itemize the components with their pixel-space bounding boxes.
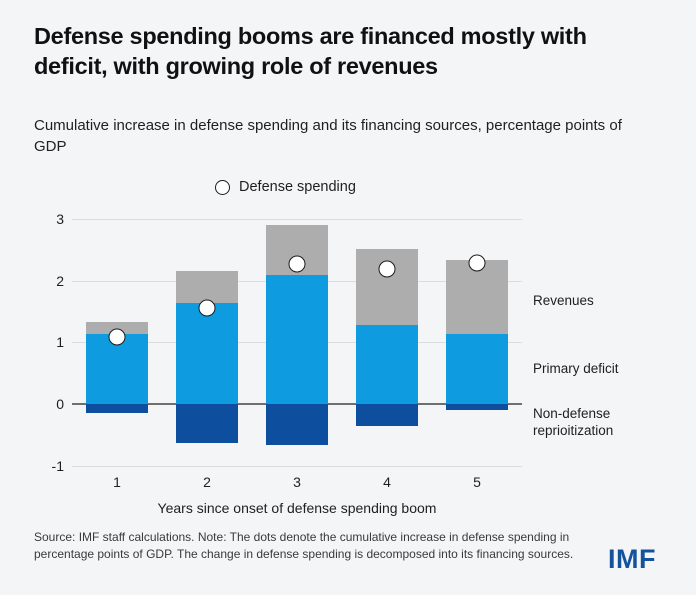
- bar-segment-primary-deficit: [266, 275, 328, 404]
- defense-spending-dot: [379, 260, 396, 277]
- bar-segment-non-defense: [176, 404, 238, 443]
- chart-page: Defense spending booms are financed most…: [0, 0, 696, 595]
- bar-segment-primary-deficit: [356, 325, 418, 404]
- y-axis-tick-label: -1: [26, 458, 64, 474]
- bar-segment-non-defense: [356, 404, 418, 426]
- side-label-revenues: Revenues: [533, 292, 594, 309]
- defense-spending-dot: [199, 299, 216, 316]
- x-axis-tick-label: 4: [356, 474, 418, 490]
- x-axis-tick-label: 3: [266, 474, 328, 490]
- defense-spending-dot: [469, 254, 486, 271]
- bar-segment-primary-deficit: [446, 334, 508, 404]
- source-note: Source: IMF staff calculations. Note: Th…: [34, 529, 579, 562]
- x-axis-tick-label: 2: [176, 474, 238, 490]
- side-label-non-defense: Non-defense reprioitization: [533, 405, 643, 439]
- bar-segment-revenues: [446, 260, 508, 334]
- defense-spending-dot: [109, 328, 126, 345]
- x-axis-title: Years since onset of defense spending bo…: [72, 500, 522, 516]
- y-axis-tick-label: 2: [26, 273, 64, 289]
- defense-spending-dot: [289, 255, 306, 272]
- bar-segment-primary-deficit: [176, 303, 238, 404]
- y-axis-tick-label: 1: [26, 334, 64, 350]
- imf-logo: IMF: [608, 544, 656, 575]
- side-label-primary-deficit: Primary deficit: [533, 360, 619, 377]
- x-axis-tick-label: 1: [86, 474, 148, 490]
- bar-segment-non-defense: [446, 404, 508, 410]
- bar-segment-non-defense: [266, 404, 328, 445]
- y-axis-tick-label: 3: [26, 211, 64, 227]
- gridline: [72, 466, 522, 467]
- gridline: [72, 219, 522, 220]
- x-axis-tick-label: 5: [446, 474, 508, 490]
- bar-segment-non-defense: [86, 404, 148, 413]
- y-axis-tick-label: 0: [26, 396, 64, 412]
- bar-segment-revenues: [176, 271, 238, 303]
